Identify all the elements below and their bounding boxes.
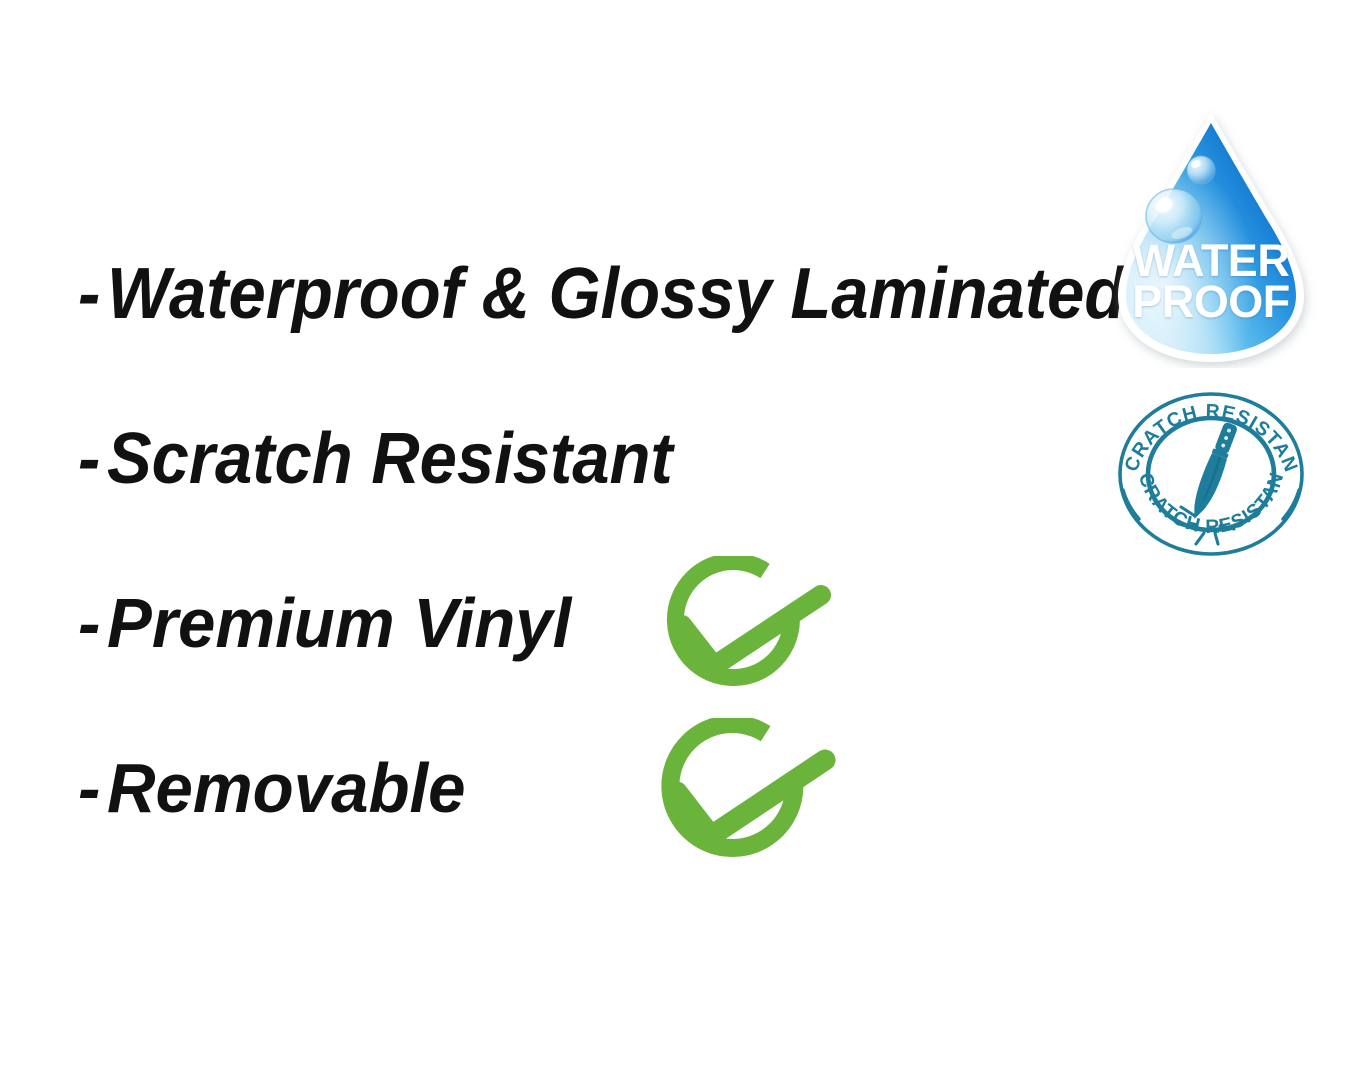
knife-icon	[1187, 421, 1241, 523]
feature-bullet-dash: -	[78, 753, 100, 823]
green-check-icon-2	[632, 718, 846, 876]
checkmark-stroke	[682, 595, 821, 666]
feature-bullet-dash: -	[78, 423, 100, 495]
feature-label: Waterproof & Glossy Laminated	[107, 258, 1125, 330]
waterproof-badge: WATER PROOF	[1100, 106, 1328, 368]
feature-list: - Waterproof & Glossy Laminated - Scratc…	[0, 0, 1100, 1080]
feature-label: Premium Vinyl	[107, 588, 571, 658]
scratch-resistant-badge: SCRATCH RESISTANT SCRATCH RESISTANT	[1112, 386, 1310, 558]
feature-bullet-dash: -	[78, 588, 100, 658]
product-feature-graphic: - Waterproof & Glossy Laminated - Scratc…	[0, 0, 1359, 1080]
bubble-large-icon	[1146, 189, 1202, 243]
feature-label: Scratch Resistant	[107, 423, 673, 495]
water-drop-shape	[1118, 112, 1304, 362]
feature-bullet-dash: -	[78, 258, 100, 330]
feature-item-waterproof: - Waterproof & Glossy Laminated	[78, 258, 1202, 330]
feature-item-scratch-resistant: - Scratch Resistant	[78, 423, 716, 495]
feature-label: Removable	[107, 753, 466, 823]
checkmark-stroke	[677, 760, 825, 836]
feature-item-removable: - Removable	[78, 753, 480, 823]
green-check-icon-1	[640, 556, 840, 704]
feature-item-premium-vinyl: - Premium Vinyl	[78, 588, 590, 658]
bubble-small-icon	[1187, 156, 1215, 184]
